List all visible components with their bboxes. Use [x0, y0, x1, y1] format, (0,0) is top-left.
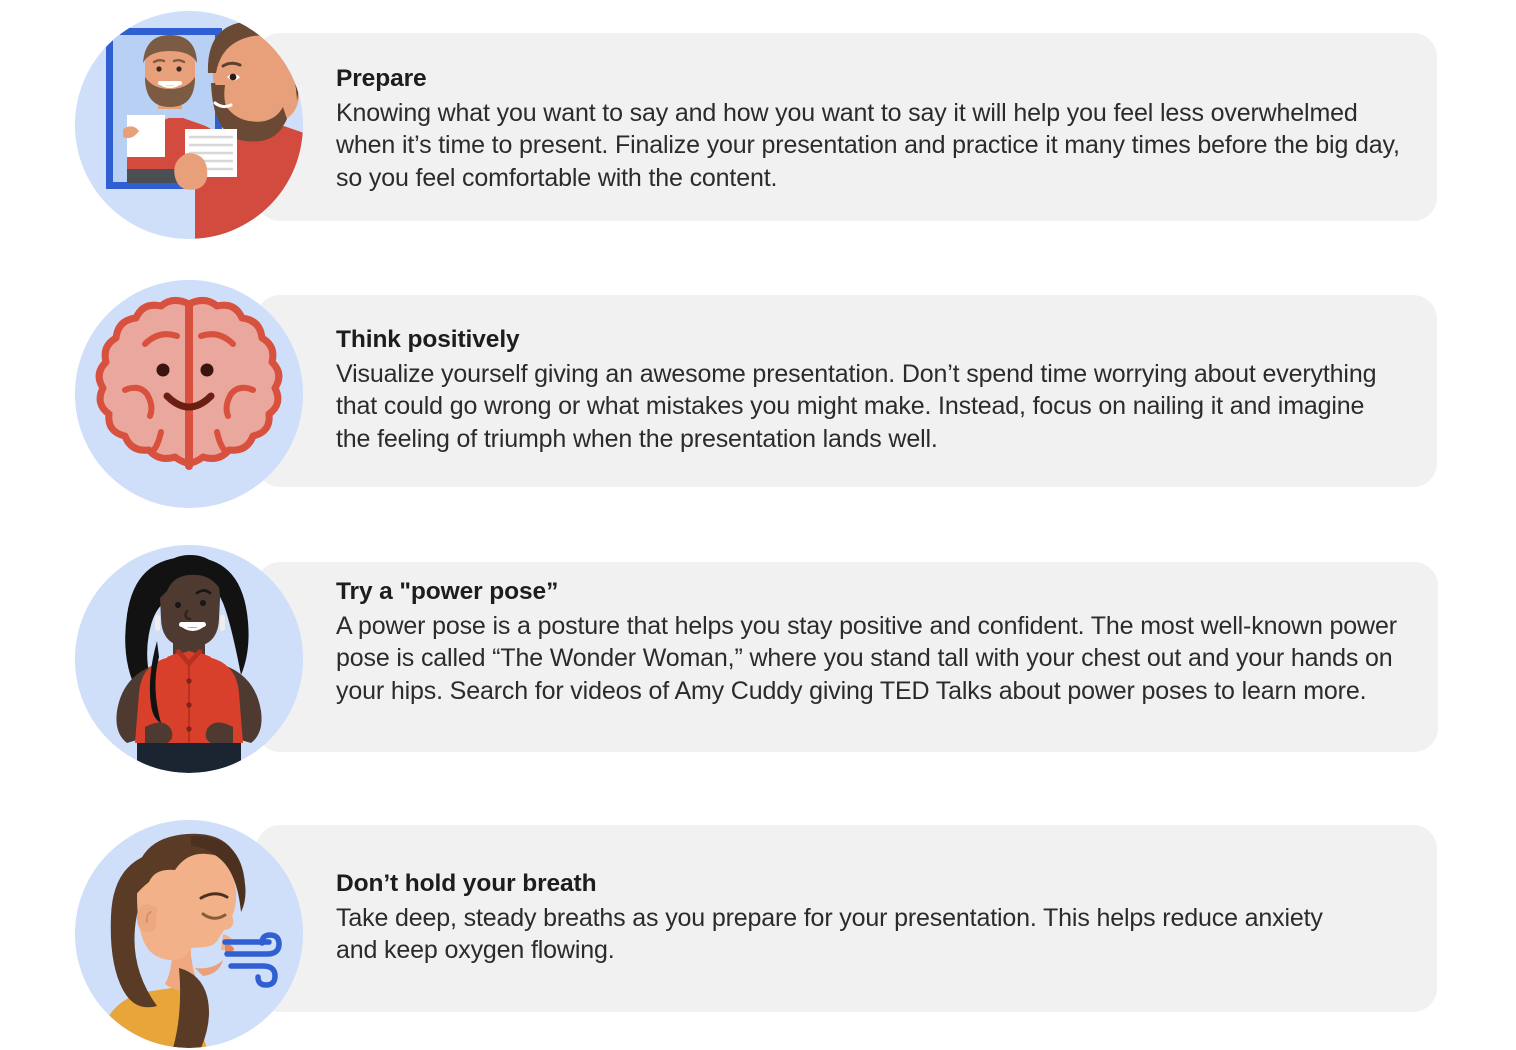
smiling-brain-illustration: [75, 280, 303, 508]
tip-title: Try a "power pose”: [336, 576, 1421, 608]
tip-title: Don’t hold your breath: [336, 868, 1346, 900]
woman-breathing-illustration: [75, 820, 303, 1048]
tip-text-block: Try a "power pose” A power pose is a pos…: [336, 576, 1421, 707]
tip-text-block: Don’t hold your breath Take deep, steady…: [336, 868, 1346, 967]
tip-body: A power pose is a posture that helps you…: [336, 610, 1421, 707]
tip-title: Think positively: [336, 324, 1396, 356]
tip-body: Knowing what you want to say and how you…: [336, 97, 1416, 194]
man-practicing-in-mirror-illustration: [75, 11, 303, 239]
tip-body: Visualize yourself giving an awesome pre…: [336, 358, 1396, 455]
tip-body: Take deep, steady breaths as you prepare…: [336, 902, 1346, 967]
presentation-tips-list: Prepare Knowing what you want to say and…: [0, 0, 1516, 1050]
tip-title: Prepare: [336, 63, 1416, 95]
woman-power-pose-illustration: [75, 545, 303, 773]
tip-text-block: Prepare Knowing what you want to say and…: [336, 63, 1416, 194]
tip-text-block: Think positively Visualize yourself givi…: [336, 324, 1396, 455]
